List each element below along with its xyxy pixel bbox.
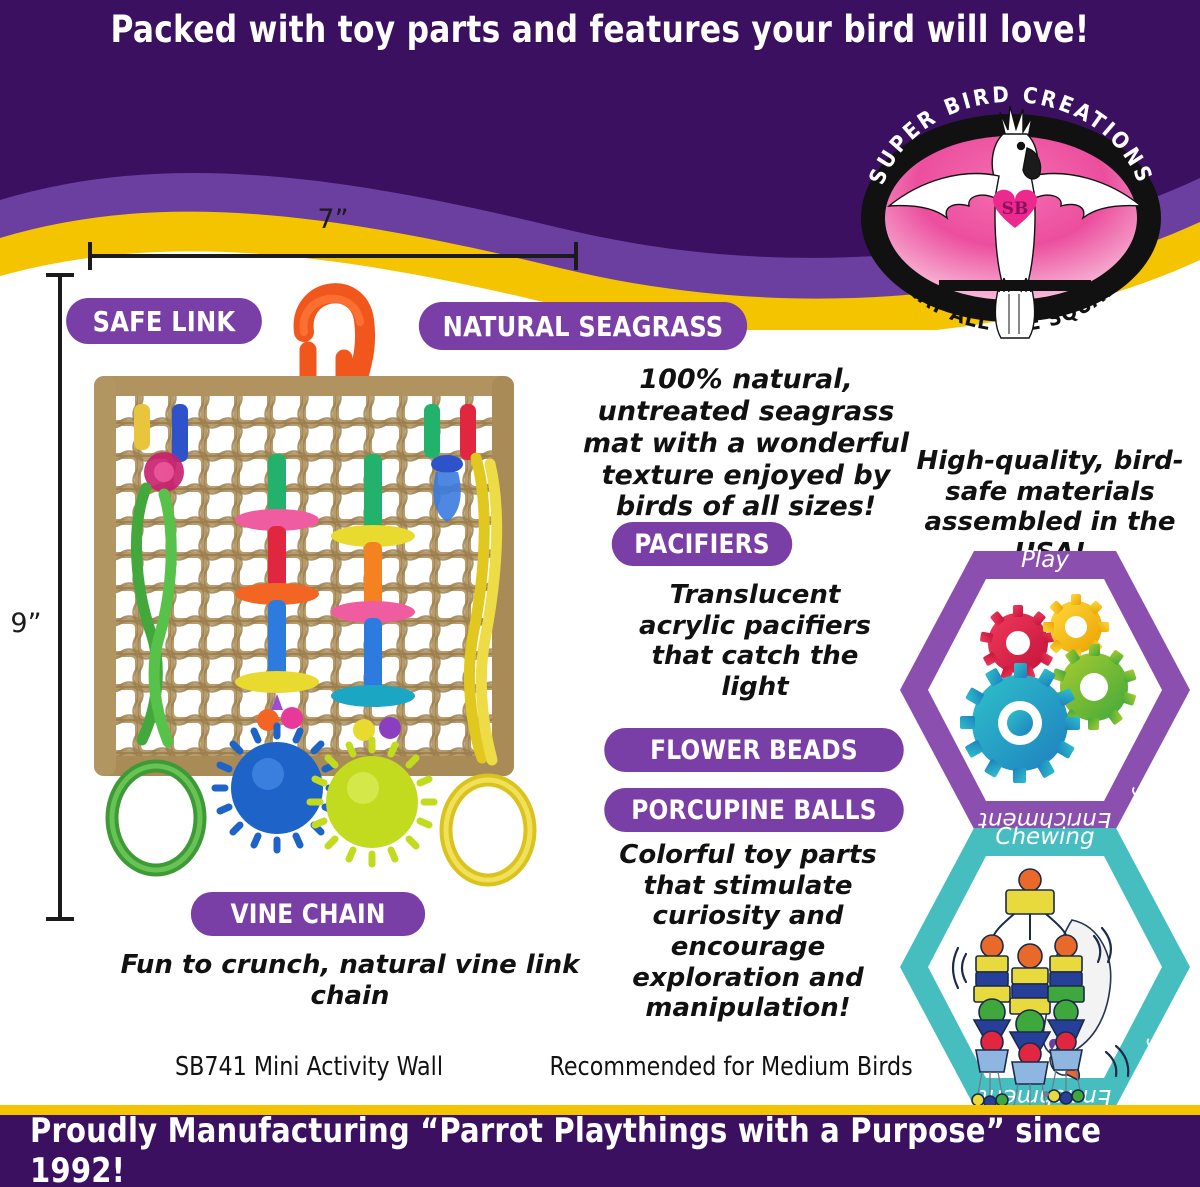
height-dimension-line [44, 273, 74, 921]
hex-badge-play: Play Mechanical Dexterity Enrichment Pro… [900, 545, 1190, 837]
footer-tagline: Proudly Manufacturing “Parrot Playthings… [30, 1115, 1170, 1187]
badge-safe-link[interactable]: SAFE LINK [66, 298, 262, 344]
svg-text:Play: Play [1021, 547, 1069, 573]
product-recommendation: Recommended for Medium Birds [550, 1052, 913, 1082]
badge-pacifiers[interactable]: PACIFIERS [612, 522, 792, 566]
dimension-cap-bottom [46, 917, 74, 921]
brand-logo: FIND OUT WHAT ALL THE SQUAWK'S ABOUT! SU… [843, 72, 1179, 348]
badge-natural-seagrass[interactable]: NATURAL SEAGRASS [419, 302, 747, 350]
dimension-cap-left [88, 242, 92, 270]
hex-play-label-top: Play [1021, 547, 1069, 573]
copy-pacifiers: Translucent acrylic pacifiers that catch… [620, 580, 890, 703]
dimension-bar [88, 254, 578, 258]
width-dimension-label: 7” [88, 204, 578, 235]
copy-seagrass: 100% natural, untreated seagrass mat wit… [566, 364, 926, 523]
product-sku-name: SB741 Mini Activity Wall [175, 1052, 443, 1082]
product-photo [72, 258, 572, 918]
porcupine-ball-green [310, 740, 434, 864]
svg-text:Chewing: Chewing [995, 824, 1094, 850]
page-title: Packed with toy parts and features your … [36, 8, 1164, 51]
logo-heart-text: SB [1002, 199, 1029, 219]
hex-badge-chewing: Chewing Behavior Play Enrichment Satisfi… [900, 822, 1190, 1114]
hex-chew-label-top: Chewing [995, 824, 1094, 850]
footer-banner: Proudly Manufacturing “Parrot Playthings… [0, 1115, 1200, 1187]
dimension-cap-right [574, 242, 578, 270]
width-dimension-line [88, 240, 578, 270]
badge-porcupine-balls[interactable]: PORCUPINE BALLS [604, 788, 904, 832]
height-dimension-label: 9” [4, 608, 48, 639]
badge-vine-chain[interactable]: VINE CHAIN [191, 892, 425, 936]
dimension-cap-top [46, 273, 74, 277]
dimension-bar [58, 273, 62, 921]
copy-vine-chain: Fun to crunch, natural vine link chain [110, 950, 590, 1011]
copy-parts: Colorful toy parts that stimulate curios… [588, 840, 908, 1024]
infographic-canvas: Packed with toy parts and features your … [0, 0, 1200, 1187]
badge-flower-beads[interactable]: FLOWER BEADS [604, 728, 904, 772]
porcupine-ball-blue [215, 726, 339, 850]
